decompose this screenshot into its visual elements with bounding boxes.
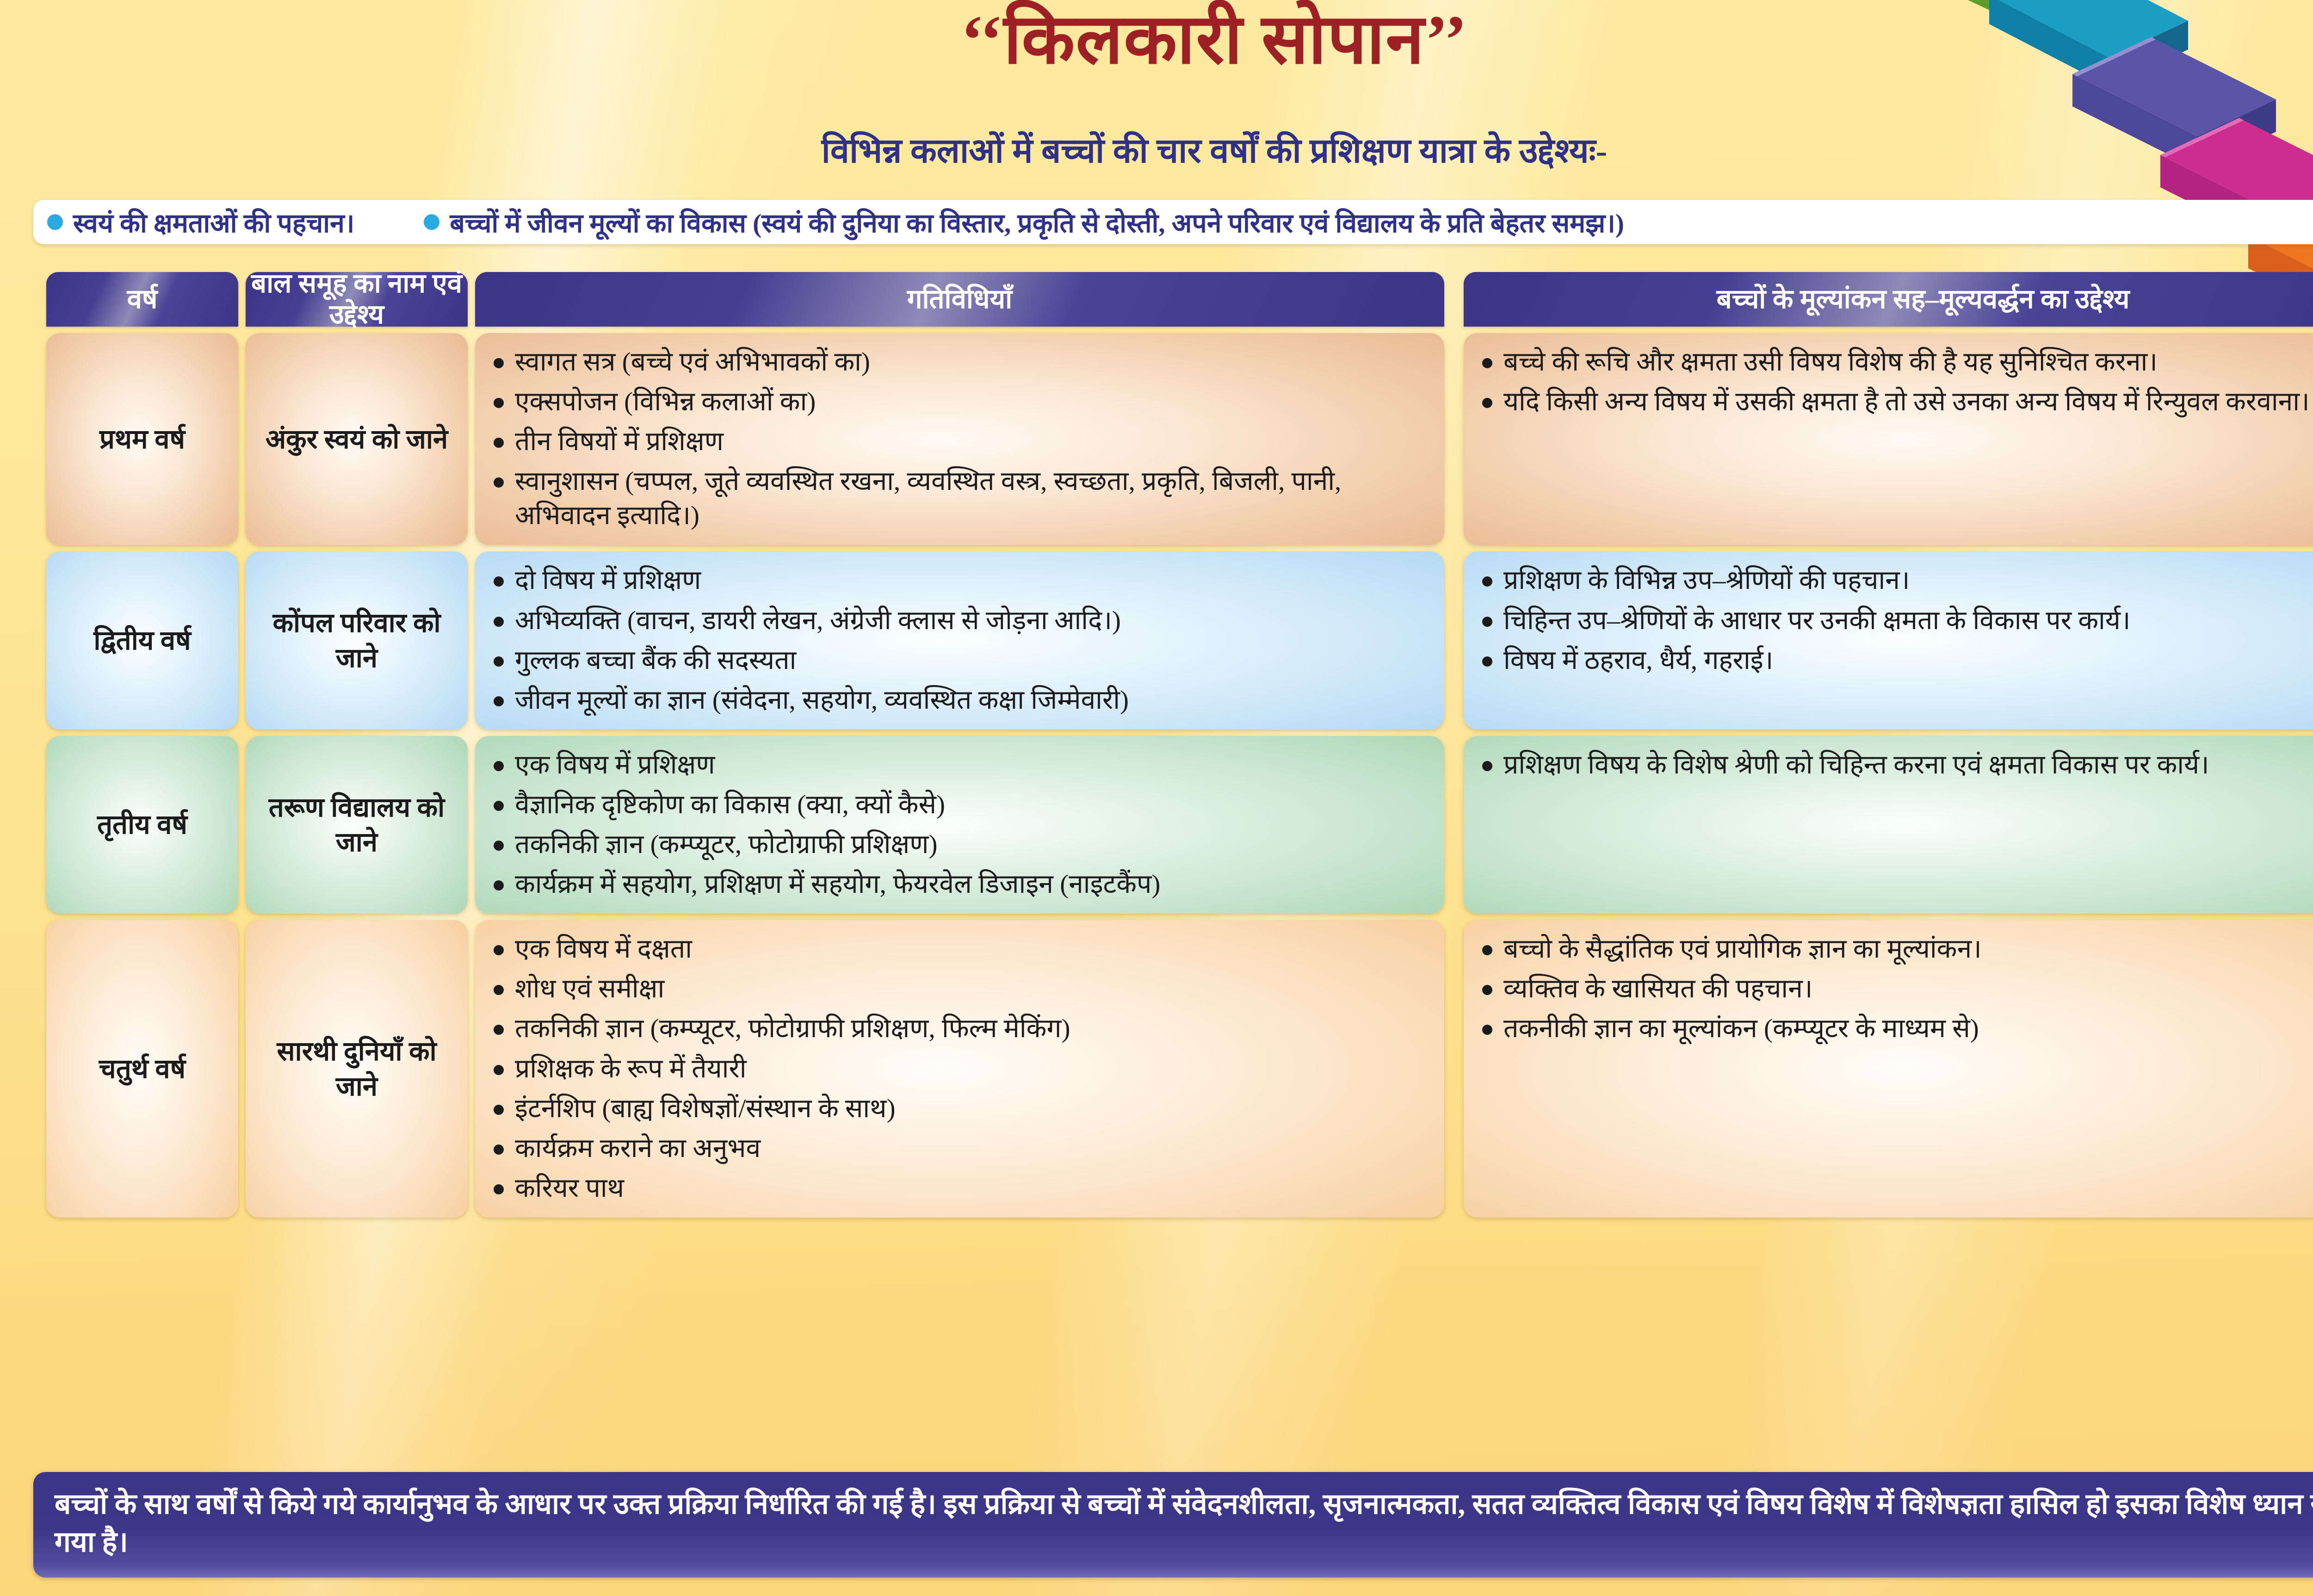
list-item: शोध एवं समीक्षा xyxy=(491,972,1429,1006)
list-item: प्रशिक्षण के विभिन्न उप–श्रेणियों की पहच… xyxy=(1479,563,2313,598)
cell-group: तरूण विद्यालय को जाने xyxy=(246,736,468,914)
cell-year: तृतीय वर्ष xyxy=(46,736,238,914)
footer-note: बच्चों के साथ वर्षों से किये गये कार्यान… xyxy=(33,1472,2313,1577)
list-item: गुल्लक बच्चा बैंक की सदस्यता xyxy=(491,643,1429,678)
list-item: स्वागत सत्र (बच्चे एवं अभिभावकों का) xyxy=(491,345,1429,379)
cell-objectives: बच्चो के सैद्धांतिक एवं प्रायोगिक ज्ञान … xyxy=(1464,920,2313,1218)
column-header-group: बाल समूह का नाम एवं उद्देश्य xyxy=(246,272,468,327)
cell-group: कोंपल परिवार को जाने xyxy=(246,551,468,729)
list-item: प्रशिक्षक के रूप में तैयारी xyxy=(491,1052,1429,1086)
page-title: ‘‘किलकारी सोपान’’ xyxy=(0,4,2313,77)
cell-year: प्रथम वर्ष xyxy=(46,333,238,545)
journey-table: वर्ष बाल समूह का नाम एवं उद्देश्य गतिविध… xyxy=(46,272,2313,1218)
list-item: बच्चे की रूचि और क्षमता उसी विषय विशेष क… xyxy=(1479,345,2313,379)
column-header-activities: गतिविधियाँ xyxy=(475,272,1444,327)
table-row: तृतीय वर्ष तरूण विद्यालय को जाने एक विषय… xyxy=(46,736,2313,914)
column-header-year: वर्ष xyxy=(46,272,238,327)
list-item: इंटर्नशिप (बाह्य विशेषज्ञों/संस्थान के स… xyxy=(491,1092,1429,1126)
cell-objectives: बच्चे की रूचि और क्षमता उसी विषय विशेष क… xyxy=(1464,333,2313,545)
list-item: तकनिकी ज्ञान (कम्प्यूटर, फोटोग्राफी प्रश… xyxy=(491,1012,1429,1046)
cell-activities: एक विषय में दक्षता शोध एवं समीक्षा तकनिक… xyxy=(475,920,1444,1218)
list-item: चिहिन्त उप–श्रेणियों के आधार पर उनकी क्ष… xyxy=(1479,604,2313,638)
objective-label-1: स्वयं की क्षमताओं की पहचान। xyxy=(73,204,354,240)
cell-group: सारथी दुनियाँ को जाने xyxy=(246,920,468,1218)
list-item: वैज्ञानिक दृष्टिकोण का विकास (क्या, क्यो… xyxy=(491,788,1429,822)
bullet-dot-icon xyxy=(47,214,63,230)
list-item: तकनिकी ज्ञान (कम्प्यूटर, फोटोग्राफी प्रश… xyxy=(491,828,1429,862)
list-item: अभिव्यक्ति (वाचन, डायरी लेखन, अंग्रेजी क… xyxy=(491,604,1429,638)
list-item: जीवन मूल्यों का ज्ञान (संवेदना, सहयोग, व… xyxy=(491,683,1429,718)
list-item: एक विषय में दक्षता xyxy=(491,932,1429,966)
cell-objectives: प्रशिक्षण विषय के विशेष श्रेणी को चिहिन्… xyxy=(1464,736,2313,914)
page-subtitle: विभिन्न कलाओं में बच्चों की चार वर्षों क… xyxy=(0,126,2313,173)
table-header-row: वर्ष बाल समूह का नाम एवं उद्देश्य गतिविध… xyxy=(46,272,2313,327)
list-item: एक्सपोजन (विभिन्न कलाओं का) xyxy=(491,385,1429,419)
cell-group: अंकुर स्वयं को जाने xyxy=(246,333,468,545)
list-item: करियर पाथ xyxy=(491,1171,1429,1206)
objectives-bar: स्वयं की क्षमताओं की पहचान। बच्चों में ज… xyxy=(33,200,2313,244)
list-item: विषय में ठहराव, धैर्य, गहराई। xyxy=(1479,643,2313,678)
cell-activities: दो विषय में प्रशिक्षण अभिव्यक्ति (वाचन, … xyxy=(475,551,1444,729)
cell-activities: स्वागत सत्र (बच्चे एवं अभिभावकों का) एक्… xyxy=(475,333,1444,545)
list-item: दो विषय में प्रशिक्षण xyxy=(491,563,1429,598)
list-item: व्यक्तिव के खासियत की पहचान। xyxy=(1479,972,2313,1006)
list-item: कार्यक्रम कराने का अनुभव xyxy=(491,1132,1429,1166)
table-row: चतुर्थ वर्ष सारथी दुनियाँ को जाने एक विष… xyxy=(46,920,2313,1218)
cell-activities: एक विषय में प्रशिक्षण वैज्ञानिक दृष्टिको… xyxy=(475,736,1444,914)
list-item: तीन विषयों में प्रशिक्षण xyxy=(491,425,1429,459)
column-header-objectives: बच्चों के मूल्यांकन सह–मूल्यवर्द्धन का उ… xyxy=(1464,272,2313,327)
list-item: बच्चो के सैद्धांतिक एवं प्रायोगिक ज्ञान … xyxy=(1479,932,2313,966)
list-item: प्रशिक्षण विषय के विशेष श्रेणी को चिहिन्… xyxy=(1479,748,2313,782)
objective-label-2: बच्चों में जीवन मूल्यों का विकास (स्वयं … xyxy=(450,204,1624,240)
list-item: यदि किसी अन्य विषय में उसकी क्षमता है तो… xyxy=(1479,385,2313,419)
cell-year: चतुर्थ वर्ष xyxy=(46,920,238,1218)
table-row: प्रथम वर्ष अंकुर स्वयं को जाने स्वागत सत… xyxy=(46,333,2313,545)
cell-year: द्वितीय वर्ष xyxy=(46,551,238,729)
list-item: तकनीकी ज्ञान का मूल्यांकन (कम्प्यूटर के … xyxy=(1479,1012,2313,1046)
objective-item-2: बच्चों में जीवन मूल्यों का विकास (स्वयं … xyxy=(424,204,1624,240)
list-item: कार्यक्रम में सहयोग, प्रशिक्षण में सहयोग… xyxy=(491,867,1429,902)
list-item: एक विषय में प्रशिक्षण xyxy=(491,748,1429,782)
cell-objectives: प्रशिक्षण के विभिन्न उप–श्रेणियों की पहच… xyxy=(1464,551,2313,729)
table-row: द्वितीय वर्ष कोंपल परिवार को जाने दो विष… xyxy=(46,551,2313,729)
list-item: स्वानुशासन (चप्पल, जूते व्यवस्थित रखना, … xyxy=(491,464,1429,533)
poster-canvas: ‘‘किलकारी सोपान’’ विभिन्न कलाओं में बच्च… xyxy=(0,0,2313,1596)
objective-item-1: स्वयं की क्षमताओं की पहचान। xyxy=(47,204,354,240)
bullet-dot-icon xyxy=(424,214,439,230)
